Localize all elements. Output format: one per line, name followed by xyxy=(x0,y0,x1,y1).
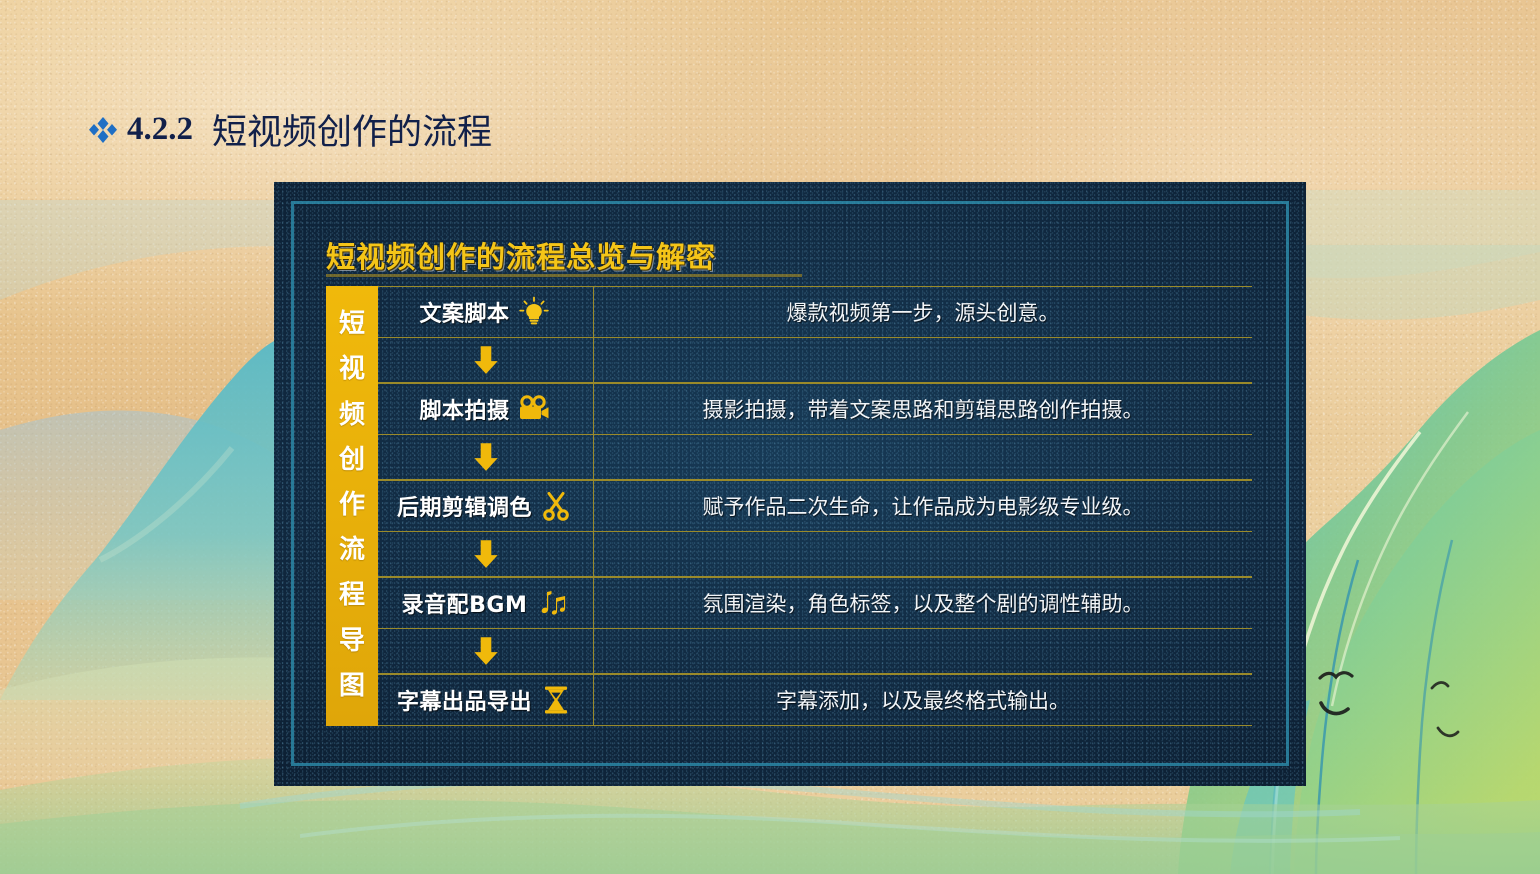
flow-table: 短 视 频 创 作 流 程 导 图 文案脚本 xyxy=(326,286,1252,726)
bird-icon xyxy=(1321,703,1348,714)
flow-arrow-row xyxy=(378,629,1252,674)
flow-step-desc-cell: 摄影拍摄，带着文案思路和剪辑思路创作拍摄。 xyxy=(594,384,1252,434)
flow-step-label: 字幕出品导出 xyxy=(397,684,532,716)
spine-char: 频 xyxy=(339,402,365,428)
down-arrow-icon xyxy=(469,440,503,474)
flow-step-label: 文案脚本 xyxy=(419,296,509,328)
flow-step-row: 后期剪辑调色 xyxy=(378,480,1252,532)
page-title: 4.2.2 短视频创作的流程 xyxy=(88,104,492,155)
flow-step-label-cell: 脚本拍摄 xyxy=(378,384,594,434)
bird-icon xyxy=(1438,728,1458,736)
flow-step-description: 氛围渲染，角色标签，以及整个剧的调性辅助。 xyxy=(703,588,1144,618)
flow-arrow-spacer xyxy=(594,532,1252,576)
spine-char: 作 xyxy=(339,492,365,518)
down-arrow-icon xyxy=(469,343,503,377)
flow-rows: 文案脚本 xyxy=(378,286,1252,726)
flow-arrow-row xyxy=(378,435,1252,480)
flow-diagram-panel: 短视频创作的流程总览与解密 短视频创作的流程总览与解密 短 视 频 创 作 流 … xyxy=(274,182,1306,786)
scissors-icon xyxy=(538,488,574,524)
hourglass-icon xyxy=(538,682,574,718)
down-arrow-icon xyxy=(469,634,503,668)
flow-step-label: 后期剪辑调色 xyxy=(397,490,532,522)
flow-arrow-row xyxy=(378,338,1252,383)
flow-step-desc-cell: 氛围渲染，角色标签，以及整个剧的调性辅助。 xyxy=(594,578,1252,628)
spine-char: 视 xyxy=(339,356,365,382)
diamond-bullet-icon xyxy=(88,115,118,145)
flow-step-row: 字幕出品导出 字幕添加，以及最终格式输出。 xyxy=(378,674,1252,726)
spine-char: 创 xyxy=(339,447,365,473)
flow-step-label: 录音配BGM xyxy=(402,587,528,619)
flow-step-description: 赋予作品二次生命，让作品成为电影级专业级。 xyxy=(703,491,1144,521)
flow-step-label-cell: 字幕出品导出 xyxy=(378,675,594,725)
panel-heading: 短视频创作的流程总览与解密 xyxy=(326,234,716,276)
down-arrow-icon xyxy=(469,537,503,571)
presentation-slide: 4.2.2 短视频创作的流程 短视频创作的流程总览与解密 短视频创作的流程总览与… xyxy=(0,0,1540,874)
flow-step-label-cell: 后期剪辑调色 xyxy=(378,481,594,531)
flow-step-row: 脚本拍摄 摄影拍摄，带着文案思路和剪辑思路创作拍摄。 xyxy=(378,383,1252,435)
spine-char: 短 xyxy=(339,311,365,337)
vertical-label-spine: 短 视 频 创 作 流 程 导 图 xyxy=(326,286,378,726)
flow-step-description: 字幕添加，以及最终格式输出。 xyxy=(776,685,1070,715)
flow-arrow-spacer xyxy=(594,435,1252,479)
flow-step-desc-cell: 字幕添加，以及最终格式输出。 xyxy=(594,675,1252,725)
spine-char: 流 xyxy=(339,537,365,563)
flow-step-description: 摄影拍摄，带着文案思路和剪辑思路创作拍摄。 xyxy=(703,394,1144,424)
lightbulb-icon xyxy=(516,294,552,330)
flow-step-label-cell: 文案脚本 xyxy=(378,287,594,337)
flow-arrow-cell xyxy=(378,629,594,673)
page-title-number: 4.2.2 xyxy=(127,111,193,148)
flow-arrow-spacer xyxy=(594,629,1252,673)
flow-step-desc-cell: 爆款视频第一步，源头创意。 xyxy=(594,287,1252,337)
flow-arrow-cell xyxy=(378,435,594,479)
flow-arrow-row xyxy=(378,532,1252,577)
page-title-text: 短视频创作的流程 xyxy=(212,104,492,155)
flow-step-row: 录音配BGM 氛围渲染，角色标签，以及整个剧的调性辅助。 xyxy=(378,577,1252,629)
movie-camera-icon xyxy=(516,391,552,427)
spine-char: 导 xyxy=(339,628,365,654)
flow-arrow-spacer xyxy=(594,338,1252,382)
music-notes-icon xyxy=(533,585,569,621)
flow-step-description: 爆款视频第一步，源头创意。 xyxy=(787,297,1060,327)
panel-heading-underline xyxy=(326,274,802,277)
bird-icon xyxy=(1320,673,1352,678)
flow-arrow-cell xyxy=(378,338,594,382)
flow-step-label-cell: 录音配BGM xyxy=(378,578,594,628)
flow-step-desc-cell: 赋予作品二次生命，让作品成为电影级专业级。 xyxy=(594,481,1252,531)
spine-char: 程 xyxy=(339,582,365,608)
flow-step-row: 文案脚本 xyxy=(378,286,1252,338)
spine-char: 图 xyxy=(339,673,365,699)
bird-icon xyxy=(1432,682,1448,688)
flow-step-label: 脚本拍摄 xyxy=(419,393,509,425)
flow-arrow-cell xyxy=(378,532,594,576)
